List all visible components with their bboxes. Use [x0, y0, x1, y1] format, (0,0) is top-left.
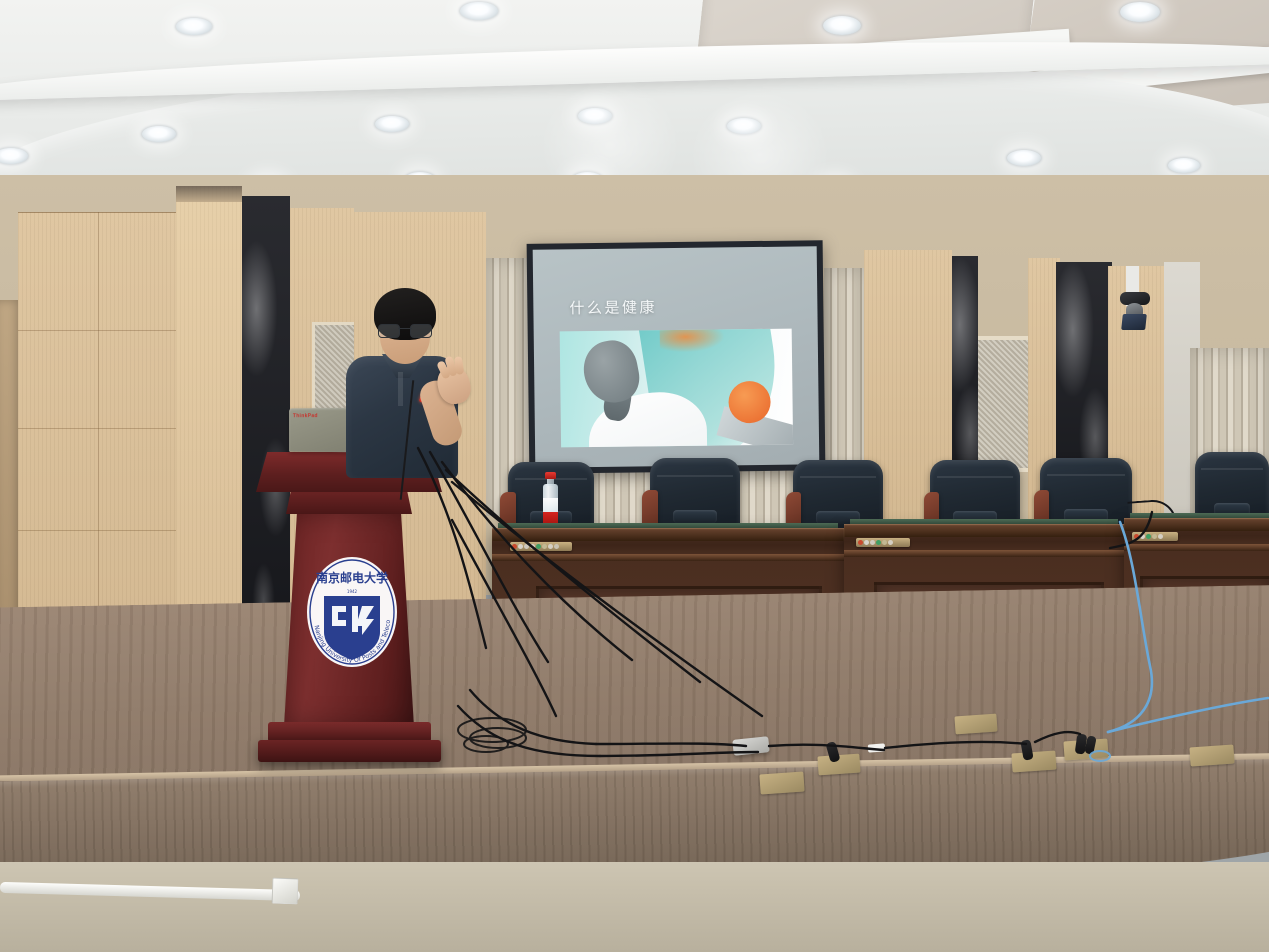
laptop-brand-mark: ThinkPad: [293, 413, 318, 419]
floor-outlet-plate: [759, 771, 804, 794]
slide-illustration: [560, 329, 793, 448]
table-connector-panel[interactable]: [856, 538, 910, 547]
port-grey: [548, 544, 553, 549]
downlight-icon: [1007, 150, 1041, 166]
table-upper-rail: [844, 550, 1124, 557]
table-connector-panel[interactable]: [510, 542, 572, 551]
wall-vent-grille: [974, 336, 1036, 472]
port-grey: [864, 540, 869, 545]
port-grey: [524, 544, 529, 549]
port-grey: [554, 544, 559, 549]
illustration-orange-splash: [660, 329, 724, 353]
port-grey: [518, 544, 523, 549]
port-green: [1146, 534, 1151, 539]
slide-title: 什么是健康: [569, 296, 657, 318]
port-red: [858, 540, 863, 545]
pvc-junction-box: [272, 878, 299, 905]
floor-outlet-plate: [1189, 744, 1234, 766]
downlight-icon: [1168, 158, 1200, 173]
port-green: [876, 540, 881, 545]
table-upper-rail: [1124, 544, 1269, 551]
downlight-icon: [375, 116, 409, 132]
camera-wall-mount: [1121, 314, 1147, 330]
port-green: [536, 544, 541, 549]
table-connector-panel[interactable]: [1132, 532, 1178, 541]
wall-wood-seam: [18, 428, 176, 429]
port-tan: [1152, 534, 1157, 539]
emblem-year: 1942: [347, 589, 358, 594]
port-red: [1134, 534, 1139, 539]
presenter: [330, 288, 480, 488]
presenter-shirt-placket: [398, 372, 403, 406]
emblem-chinese-name: 南京邮电大学: [316, 570, 388, 585]
glasses-bridge: [398, 328, 412, 329]
illustration-sun: [728, 381, 771, 424]
projection-screen: 什么是健康: [527, 240, 826, 474]
ptz-camera: [1116, 292, 1152, 334]
bottle-label-upper: [543, 498, 558, 512]
inline-cable-connector: [868, 743, 886, 752]
port-red: [512, 544, 517, 549]
wall-wood-seam: [18, 530, 176, 531]
lectern-base-upper: [268, 722, 431, 742]
port-tan: [882, 540, 887, 545]
lecture-hall-photograph: 什么是健康: [0, 0, 1269, 952]
glasses-lens-right: [410, 324, 432, 338]
port-tan: [542, 544, 547, 549]
port-grey: [888, 540, 893, 545]
downlight-icon: [176, 18, 212, 35]
university-emblem: 南京邮电大学 1942 Nanjing University Of Posts …: [306, 556, 398, 668]
glasses-icon: [378, 324, 432, 336]
downlight-icon: [578, 108, 612, 124]
table-top-edge: [844, 524, 1124, 537]
downlight-icon: [1120, 2, 1160, 22]
port-grey: [1140, 534, 1145, 539]
bottle-cap: [545, 472, 556, 479]
finger: [454, 356, 464, 375]
projection-screen-surface: 什么是健康: [533, 246, 820, 467]
table-top-edge: [492, 528, 844, 541]
port-grey: [870, 540, 875, 545]
floor-outlet-plate: [1011, 750, 1056, 772]
table-upper-rail: [492, 554, 844, 561]
lectern-base-lower: [258, 740, 441, 762]
downlight-icon: [142, 126, 176, 142]
bottle-neck: [547, 478, 554, 486]
glasses-lens-left: [378, 324, 400, 338]
wall-wood-seam: [18, 330, 176, 331]
hall-floor: [0, 862, 1269, 952]
downlight-icon: [823, 16, 861, 35]
port-grey: [1158, 534, 1163, 539]
downlight-icon: [460, 2, 498, 20]
port-grey: [530, 544, 535, 549]
wall-marble-pilaster: [242, 196, 290, 666]
table-top-edge: [1124, 518, 1269, 531]
lectern-neck: [286, 490, 412, 514]
downlight-icon: [727, 118, 761, 134]
floor-outlet-plate: [954, 714, 997, 735]
wall-scuff-top: [176, 186, 242, 202]
